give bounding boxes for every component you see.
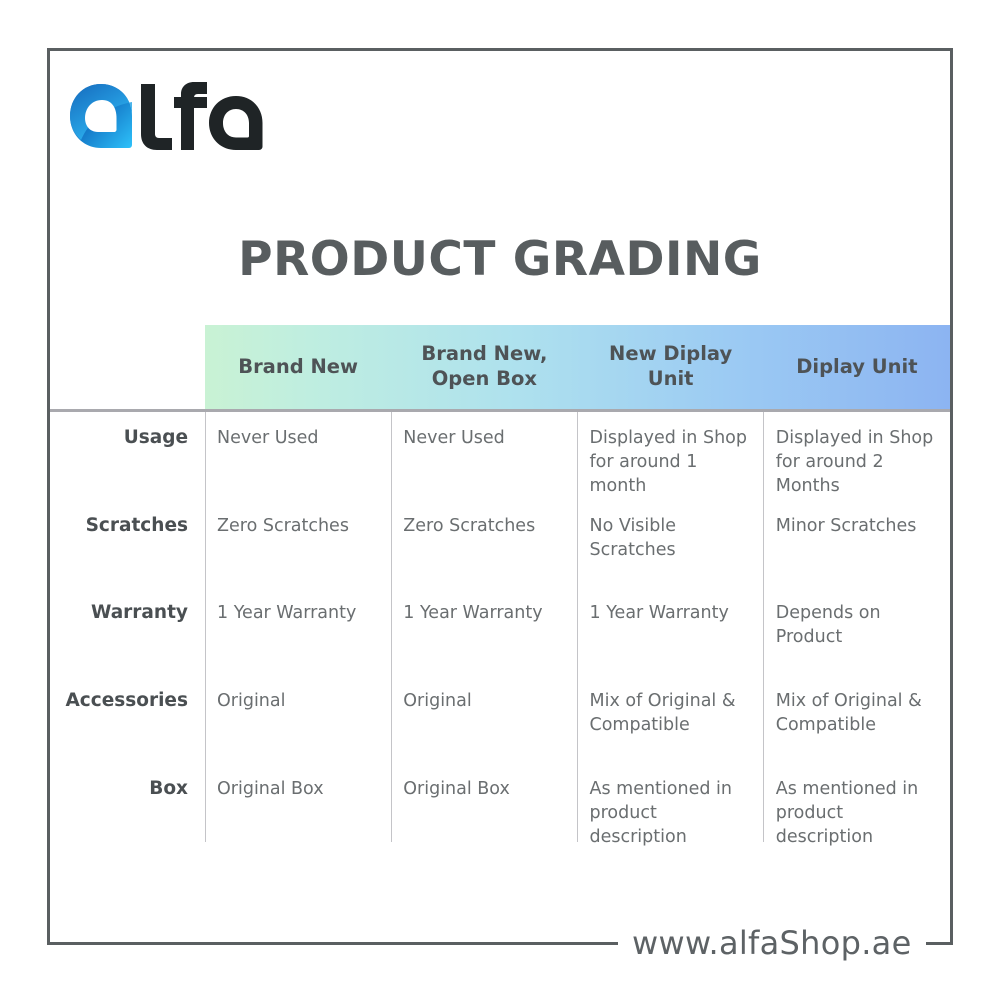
cell-usage-new-display-unit: Displayed in Shop for around 1 month — [578, 426, 764, 498]
cell-box-brand-new-open-box: Original Box — [391, 777, 577, 801]
cell-scratches-brand-new-open-box: Zero Scratches — [391, 514, 577, 538]
table-header-row: Brand New Brand New,Open Box New Diplay … — [205, 325, 950, 409]
column-header-display-unit: Diplay Unit — [764, 325, 950, 409]
cell-warranty-new-display-unit: 1 Year Warranty — [578, 601, 764, 625]
cell-accessories-brand-new: Original — [205, 689, 391, 713]
website-url[interactable]: www.alfaShop.ae — [618, 922, 926, 964]
table-row: Box Original Box Original Box As mention… — [50, 777, 950, 849]
cell-usage-brand-new: Never Used — [205, 426, 391, 450]
table-row: Scratches Zero Scratches Zero Scratches … — [50, 514, 950, 562]
alfa-logo[interactable] — [68, 82, 268, 154]
cell-accessories-brand-new-open-box: Original — [391, 689, 577, 713]
table-row: Accessories Original Original Mix of Ori… — [50, 689, 950, 737]
row-label-scratches: Scratches — [50, 514, 205, 538]
logo-mark-a — [70, 84, 132, 148]
cell-accessories-display-unit: Mix of Original & Compatible — [764, 689, 950, 737]
row-label-usage: Usage — [50, 426, 205, 450]
page-title: PRODUCT GRADING — [0, 232, 1000, 287]
cell-warranty-brand-new-open-box: 1 Year Warranty — [391, 601, 577, 625]
cell-scratches-new-display-unit: No Visible Scratches — [578, 514, 764, 562]
cell-usage-brand-new-open-box: Never Used — [391, 426, 577, 450]
row-label-warranty: Warranty — [50, 601, 205, 625]
cell-usage-display-unit: Displayed in Shop for around 2 Months — [764, 426, 950, 498]
product-grading-table: Brand New Brand New,Open Box New Diplay … — [50, 325, 950, 845]
column-header-new-display-unit: New Diplay Unit — [578, 325, 764, 409]
cell-box-brand-new: Original Box — [205, 777, 391, 801]
cell-scratches-brand-new: Zero Scratches — [205, 514, 391, 538]
table-row: Warranty 1 Year Warranty 1 Year Warranty… — [50, 601, 950, 649]
column-header-brand-new: Brand New — [205, 325, 391, 409]
row-label-box: Box — [50, 777, 205, 801]
table-row: Usage Never Used Never Used Displayed in… — [50, 426, 950, 498]
table-body: Usage Never Used Never Used Displayed in… — [50, 412, 950, 842]
product-grading-infographic: PRODUCT GRADING Brand New Brand New,Open… — [0, 0, 1000, 1000]
cell-warranty-display-unit: Depends on Product — [764, 601, 950, 649]
row-label-accessories: Accessories — [50, 689, 205, 713]
cell-box-new-display-unit: As mentioned in product description — [578, 777, 764, 849]
cell-scratches-display-unit: Minor Scratches — [764, 514, 950, 538]
cell-warranty-brand-new: 1 Year Warranty — [205, 601, 391, 625]
cell-accessories-new-display-unit: Mix of Original & Compatible — [578, 689, 764, 737]
logo-wordmark-lfa — [141, 82, 263, 150]
column-header-brand-new-open-box: Brand New,Open Box — [391, 325, 577, 409]
cell-box-display-unit: As mentioned in product description — [764, 777, 950, 849]
